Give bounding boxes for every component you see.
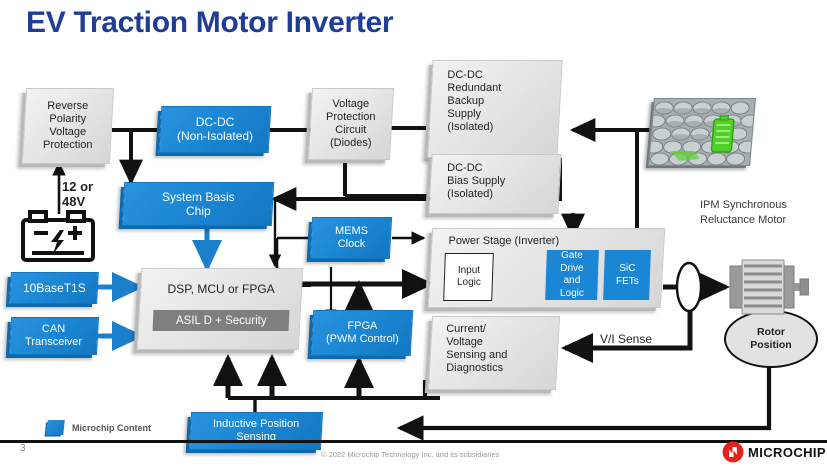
block-label: 10BaseT1S xyxy=(19,281,90,295)
connector-layer xyxy=(0,0,827,472)
block-label: Rotor Position xyxy=(750,326,791,352)
footer-divider xyxy=(0,440,827,443)
block-label: System Basis Chip xyxy=(158,190,239,218)
block-mems-clock[interactable]: MEMS Clock xyxy=(310,217,392,259)
block-inductive-position-sensing[interactable]: Inductive Position Sensing xyxy=(189,412,323,450)
slide-canvas: EV Traction Motor Inverter xyxy=(0,0,827,472)
block-dcdc-bias-supply[interactable]: DC-DC Bias Supply (Isolated) xyxy=(428,154,561,214)
microchip-content-swatch xyxy=(46,420,65,435)
brand-wordmark: MICROCHIP xyxy=(748,445,826,460)
legend-label: Microchip Content xyxy=(72,423,151,433)
block-asil-d-security[interactable]: ASIL D + Security xyxy=(153,310,290,331)
block-label: MEMS Clock xyxy=(331,225,372,251)
sub-block-gate-drive-and-logic[interactable]: Gate Drive and Logic xyxy=(545,250,599,300)
battery-voltage-label: 12 or 48V xyxy=(62,180,93,210)
battery-icon xyxy=(20,208,98,264)
vi-sense-label: V/I Sense xyxy=(600,332,652,346)
block-label: Voltage Protection Circuit (Diodes) xyxy=(322,98,380,150)
block-reverse-polarity-voltage-protection[interactable]: Reverse Polarity Voltage Protection xyxy=(22,88,114,164)
block-label: DC-DC Bias Supply (Isolated) xyxy=(443,162,509,201)
electric-motor-icon xyxy=(727,258,809,316)
microchip-logo-icon xyxy=(722,441,744,463)
block-label: SiC FETs xyxy=(616,263,639,288)
block-dcdc-non-isolated[interactable]: DC-DC (Non-Isolated) xyxy=(159,106,272,153)
block-label: CAN Transceiver xyxy=(21,323,86,349)
block-can-transceiver[interactable]: CAN Transceiver xyxy=(9,317,99,355)
copyright-text: © 2022 Microchip Technology Inc. and its… xyxy=(321,450,499,459)
page-number: 3 xyxy=(20,443,26,454)
block-label: DC-DC Redundant Backup Supply (Isolated) xyxy=(443,69,505,134)
block-dcdc-redundant-backup-supply[interactable]: DC-DC Redundant Backup Supply (Isolated) xyxy=(427,60,562,158)
block-label: FPGA (PWM Control) xyxy=(322,320,403,346)
block-current-voltage-sensing[interactable]: Current/ Voltage Sensing and Diagnostics xyxy=(428,316,560,390)
sub-block-input-logic[interactable]: Input Logic xyxy=(443,253,494,301)
block-voltage-protection-circuit[interactable]: Voltage Protection Circuit (Diodes) xyxy=(308,88,394,160)
block-dsp-mcu-fpga[interactable]: DSP, MCU or FPGA xyxy=(137,268,304,350)
block-label: Reverse Polarity Voltage Protection xyxy=(39,100,97,152)
current-sensor-ring-icon xyxy=(672,261,708,315)
block-label: Input Logic xyxy=(457,265,481,289)
block-label: DSP, MCU or FPGA xyxy=(141,282,301,296)
block-system-basis-chip[interactable]: System Basis Chip xyxy=(122,182,274,226)
battery-pack-photo xyxy=(648,98,756,166)
block-label: Current/ Voltage Sensing and Diagnostics xyxy=(442,323,511,375)
block-fpga-pwm-control[interactable]: FPGA (PWM Control) xyxy=(311,310,414,356)
block-10baset1s[interactable]: 10BaseT1S xyxy=(9,272,99,304)
block-label: DC-DC (Non-Isolated) xyxy=(173,115,257,143)
microchip-logo: MICROCHIP xyxy=(722,441,826,463)
sub-block-sic-fets[interactable]: SiC FETs xyxy=(603,250,651,300)
motor-caption: IPM Synchronous Reluctance Motor xyxy=(700,198,787,228)
block-rotor-position[interactable]: Rotor Position xyxy=(724,310,818,368)
block-label: Power Stage (Inverter) xyxy=(444,235,563,248)
block-label: Gate Drive and Logic xyxy=(560,250,584,300)
block-label: ASIL D + Security xyxy=(176,315,267,327)
